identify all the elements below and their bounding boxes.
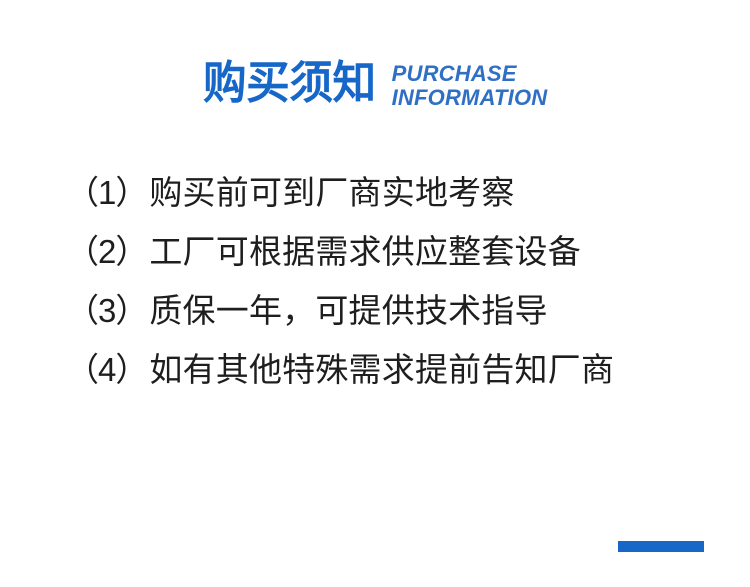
page-subtitle-line-2: INFORMATION	[392, 86, 548, 110]
list-item-index: （2）	[66, 233, 147, 270]
page-subtitle-line-1: PURCHASE	[392, 62, 548, 86]
list-item-index: （1）	[66, 174, 147, 211]
list-item: （1）购买前可到厂商实地考察	[66, 163, 706, 222]
page-subtitle-en: PURCHASE INFORMATION	[392, 62, 548, 110]
list-item-index: （4）	[66, 351, 147, 388]
list-item: （4）如有其他特殊需求提前告知厂商	[66, 340, 706, 399]
list-item-text: 质保一年，可提供技术指导	[149, 292, 547, 329]
purchase-notice-list: （1）购买前可到厂商实地考察 （2）工厂可根据需求供应整套设备 （3）质保一年，…	[66, 163, 706, 399]
list-item: （2）工厂可根据需求供应整套设备	[66, 222, 706, 281]
page-title-block: 购买须知 PURCHASE INFORMATION	[0, 58, 750, 110]
accent-bar	[618, 541, 704, 552]
list-item-text: 如有其他特殊需求提前告知厂商	[149, 351, 614, 388]
list-item-index: （3）	[66, 292, 147, 329]
slide-canvas: 购买须知 PURCHASE INFORMATION （1）购买前可到厂商实地考察…	[0, 0, 750, 587]
page-title-cn: 购买须知	[203, 58, 376, 108]
list-item-text: 购买前可到厂商实地考察	[149, 174, 514, 211]
list-item: （3）质保一年，可提供技术指导	[66, 281, 706, 340]
list-item-text: 工厂可根据需求供应整套设备	[149, 233, 581, 270]
